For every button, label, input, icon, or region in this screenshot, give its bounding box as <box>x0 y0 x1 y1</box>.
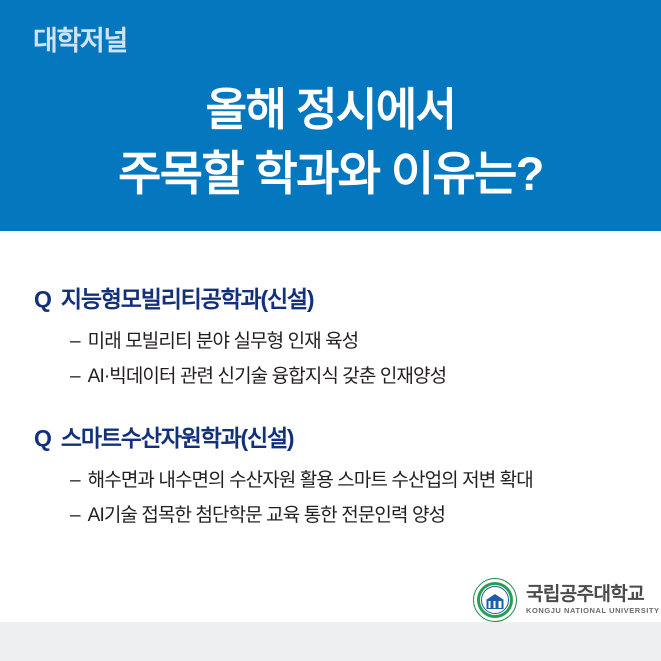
page-title-line-2: 주목할 학과와 이유는? <box>0 142 661 206</box>
infographic-card: 대학저널 올해 정시에서 주목할 학과와 이유는? Q 지능형모빌리티공학과(신… <box>0 0 661 661</box>
dash-bullet-icon: – <box>70 463 80 498</box>
section-smart-fisheries: Q 스마트수산자원학과(신설) – 해수면과 내수면의 수산자원 활용 스마트 … <box>34 427 634 533</box>
section-heading: Q 지능형모빌리티공학과(신설) <box>34 288 634 311</box>
list-item: – 미래 모빌리티 분야 실무형 인재 육성 <box>70 324 634 359</box>
university-name-ko: 국립공주대학교 <box>526 584 660 605</box>
list-item-text: AI기술 접목한 첨단학문 교육 통한 전문인력 양성 <box>88 498 445 533</box>
section-heading: Q 스마트수산자원학과(신설) <box>34 427 634 450</box>
content-area: Q 지능형모빌리티공학과(신설) – 미래 모빌리티 분야 실무형 인재 육성 … <box>0 231 661 622</box>
university-name-en: KONGJU NATIONAL UNIVERSITY <box>526 605 660 616</box>
list-item: – AI·빅데이터 관련 신기술 융합지식 갖춘 인재양성 <box>70 359 634 394</box>
section-intelligent-mobility: Q 지능형모빌리티공학과(신설) – 미래 모빌리티 분야 실무형 인재 육성 … <box>34 288 634 394</box>
university-seal-icon <box>473 578 517 622</box>
bullet-list: – 해수면과 내수면의 수산자원 활용 스마트 수산업의 저변 확대 – AI기… <box>34 463 634 533</box>
question-marker-icon: Q <box>34 288 52 311</box>
question-marker-icon: Q <box>34 427 52 450</box>
list-item-text: AI·빅데이터 관련 신기술 융합지식 갖춘 인재양성 <box>88 359 447 394</box>
university-logo: 국립공주대학교 KONGJU NATIONAL UNIVERSITY <box>473 578 660 622</box>
page-title-line-1: 올해 정시에서 <box>0 78 661 142</box>
dash-bullet-icon: – <box>70 324 80 359</box>
list-item-text: 미래 모빌리티 분야 실무형 인재 육성 <box>88 324 359 359</box>
list-item-text: 해수면과 내수면의 수산자원 활용 스마트 수산업의 저변 확대 <box>88 463 533 498</box>
bullet-list: – 미래 모빌리티 분야 실무형 인재 육성 – AI·빅데이터 관련 신기술 … <box>34 324 634 394</box>
header-banner: 대학저널 올해 정시에서 주목할 학과와 이유는? <box>0 0 661 231</box>
page-title: 올해 정시에서 주목할 학과와 이유는? <box>0 78 661 206</box>
university-name-block: 국립공주대학교 KONGJU NATIONAL UNIVERSITY <box>526 584 660 616</box>
footer-strip <box>0 622 661 661</box>
list-item: – AI기술 접목한 첨단학문 교육 통한 전문인력 양성 <box>70 498 634 533</box>
section-title: 스마트수산자원학과(신설) <box>61 427 293 450</box>
dash-bullet-icon: – <box>70 498 80 533</box>
brand-logo-text: 대학저널 <box>33 28 127 55</box>
section-title: 지능형모빌리티공학과(신설) <box>61 288 313 311</box>
dash-bullet-icon: – <box>70 359 80 394</box>
list-item: – 해수면과 내수면의 수산자원 활용 스마트 수산업의 저변 확대 <box>70 463 634 498</box>
